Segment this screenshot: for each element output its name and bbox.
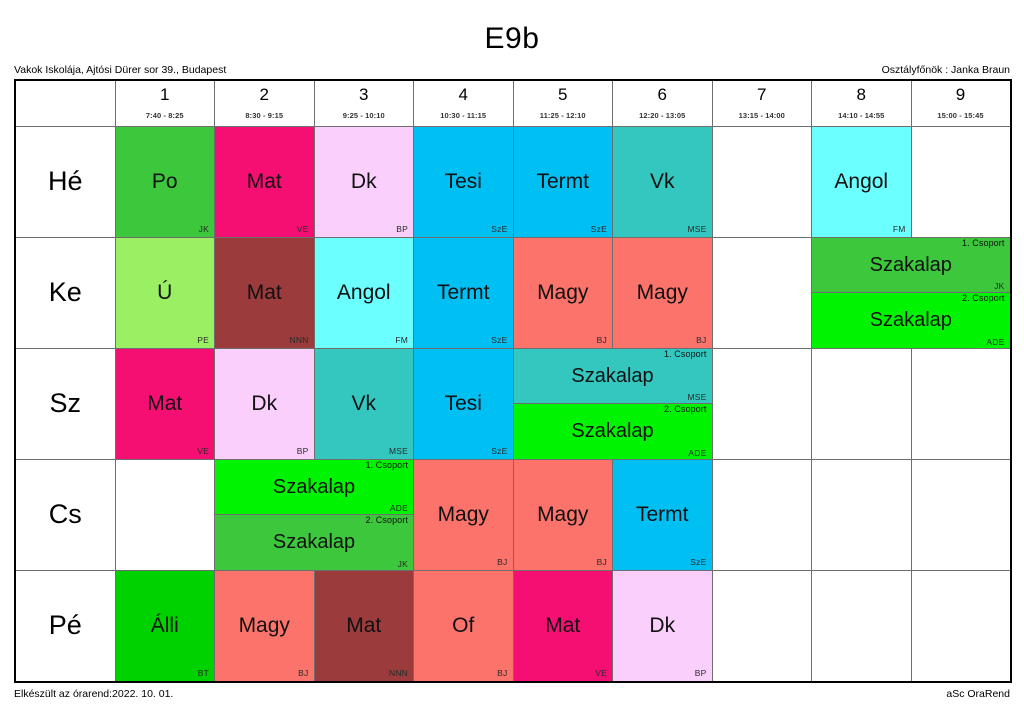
class-teacher: Osztályfőnök : Janka Braun bbox=[882, 64, 1010, 76]
lesson-cell[interactable]: OfBJ bbox=[414, 570, 514, 682]
teacher-label: BT bbox=[198, 668, 209, 678]
group-label: 1. Csoport bbox=[962, 238, 1005, 248]
teacher-label: BJ bbox=[597, 335, 607, 345]
period-header-6: 612:20 - 13:05 bbox=[613, 80, 713, 126]
subject-label: Termt bbox=[437, 282, 490, 303]
empty-slot[interactable] bbox=[812, 348, 912, 459]
teacher-label: MSE bbox=[687, 224, 706, 234]
group-lesson-1[interactable]: 1. CsoportSzakalapADE bbox=[215, 460, 413, 515]
lesson-cell[interactable]: MatNNN bbox=[314, 570, 414, 682]
lesson-cell[interactable]: ÚPE bbox=[115, 237, 215, 348]
teacher-label: SzE bbox=[591, 224, 607, 234]
subject-label: Po bbox=[152, 171, 178, 192]
group-stack: 1. CsoportSzakalapMSE2. CsoportSzakalapA… bbox=[514, 349, 712, 459]
subject-label: Magy bbox=[239, 615, 290, 636]
period-number: 9 bbox=[912, 86, 1010, 104]
subject-label: Mat bbox=[147, 393, 182, 414]
day-label-cell: Sz bbox=[15, 348, 115, 459]
lesson-box: MatVE bbox=[514, 571, 613, 681]
subject-label: Szakalap bbox=[571, 421, 653, 441]
teacher-label: BP bbox=[297, 446, 309, 456]
generated-date: Elkészült az órarend:2022. 10. 01. bbox=[14, 688, 173, 700]
period-time: 9:25 - 10:10 bbox=[315, 111, 414, 120]
teacher-label: ADE bbox=[986, 337, 1004, 347]
timetable-header-row: 17:40 - 8:2528:30 - 9:1539:25 - 10:10410… bbox=[15, 80, 1011, 126]
subject-label: Szakalap bbox=[870, 255, 952, 275]
lesson-box: OfBJ bbox=[414, 571, 513, 681]
teacher-label: SzE bbox=[690, 557, 706, 567]
lesson-box: TesiSzE bbox=[414, 349, 513, 459]
subject-label: Of bbox=[452, 615, 474, 636]
teacher-label: BJ bbox=[497, 557, 507, 567]
lesson-cell[interactable]: MatNNN bbox=[215, 237, 315, 348]
subject-label: Angol bbox=[834, 171, 888, 192]
lesson-cell[interactable]: TermtSzE bbox=[613, 459, 713, 570]
day-label-cell: Cs bbox=[15, 459, 115, 570]
day-label-cell: Pé bbox=[15, 570, 115, 682]
group-stack: 1. CsoportSzakalapADE2. CsoportSzakalapJ… bbox=[215, 460, 413, 570]
teacher-label: ADE bbox=[390, 503, 408, 513]
lesson-box: VkMSE bbox=[613, 127, 712, 237]
period-number: 8 bbox=[812, 86, 911, 104]
lesson-cell[interactable]: MagyBJ bbox=[414, 459, 514, 570]
group-lesson-2[interactable]: 2. CsoportSzakalapADE bbox=[514, 404, 712, 459]
teacher-label: SzE bbox=[491, 446, 507, 456]
lesson-cell[interactable]: DkBP bbox=[314, 126, 414, 237]
day-label-cell: Hé bbox=[15, 126, 115, 237]
lesson-cell[interactable]: MatVE bbox=[115, 348, 215, 459]
corner-cell bbox=[15, 80, 115, 126]
subject-label: Szakalap bbox=[571, 366, 653, 386]
group-lesson-2[interactable]: 2. CsoportSzakalapJK bbox=[215, 515, 413, 570]
split-lesson-cell[interactable]: 1. CsoportSzakalapADE2. CsoportSzakalapJ… bbox=[215, 459, 414, 570]
period-number: 3 bbox=[315, 86, 414, 104]
group-lesson-2[interactable]: 2. CsoportSzakalapADE bbox=[812, 293, 1010, 348]
subject-label: Szakalap bbox=[273, 477, 355, 497]
lesson-cell[interactable]: MagyBJ bbox=[513, 459, 613, 570]
period-header-7: 713:15 - 14:00 bbox=[712, 80, 812, 126]
teacher-label: BJ bbox=[696, 335, 706, 345]
teacher-label: BP bbox=[396, 224, 408, 234]
empty-slot[interactable] bbox=[911, 348, 1011, 459]
teacher-label: NNN bbox=[289, 335, 308, 345]
timetable-row: Cs1. CsoportSzakalapADE2. CsoportSzakala… bbox=[15, 459, 1011, 570]
subject-label: Szakalap bbox=[870, 310, 952, 330]
period-header-2: 28:30 - 9:15 bbox=[215, 80, 315, 126]
period-time: 12:20 - 13:05 bbox=[613, 111, 712, 120]
empty-slot[interactable] bbox=[712, 126, 812, 237]
empty-slot[interactable] bbox=[115, 459, 215, 570]
lesson-box: MagyBJ bbox=[414, 460, 513, 570]
timetable-table: 17:40 - 8:2528:30 - 9:1539:25 - 10:10410… bbox=[14, 79, 1012, 683]
teacher-label: BJ bbox=[597, 557, 607, 567]
lesson-box: MatVE bbox=[215, 127, 314, 237]
period-time: 15:00 - 15:45 bbox=[912, 111, 1010, 120]
period-time: 7:40 - 8:25 bbox=[116, 111, 215, 120]
teacher-label: MSE bbox=[687, 392, 706, 402]
teacher-label: BJ bbox=[497, 668, 507, 678]
lesson-cell[interactable]: MatVE bbox=[513, 570, 613, 682]
page-title: E9b bbox=[0, 0, 1024, 56]
teacher-label: FM bbox=[893, 224, 906, 234]
school-address: Vakok Iskolája, Ajtósi Dürer sor 39., Bu… bbox=[14, 64, 226, 76]
empty-slot[interactable] bbox=[911, 570, 1011, 682]
footer-row: Elkészült az órarend:2022. 10. 01. aSc O… bbox=[0, 683, 1024, 700]
subject-label: Mat bbox=[346, 615, 381, 636]
timetable-grid-wrapper: 17:40 - 8:2528:30 - 9:1539:25 - 10:10410… bbox=[0, 79, 1024, 683]
group-label: 2. Csoport bbox=[365, 515, 408, 525]
timetable-row: HéPoJKMatVEDkBPTesiSzETermtSzEVkMSEAngol… bbox=[15, 126, 1011, 237]
period-header-4: 410:30 - 11:15 bbox=[414, 80, 514, 126]
period-time: 11:25 - 12:10 bbox=[514, 111, 613, 120]
lesson-box: TermtSzE bbox=[414, 238, 513, 348]
lesson-cell[interactable]: DkBP bbox=[215, 348, 315, 459]
subject-label: Szakalap bbox=[273, 532, 355, 552]
lesson-cell[interactable]: ÁlliBT bbox=[115, 570, 215, 682]
lesson-cell[interactable]: TesiSzE bbox=[414, 348, 514, 459]
lesson-box: PoJK bbox=[116, 127, 215, 237]
lesson-box: TermtSzE bbox=[514, 127, 613, 237]
lesson-box: MagyBJ bbox=[514, 460, 613, 570]
empty-slot[interactable] bbox=[712, 459, 812, 570]
subject-label: Termt bbox=[636, 504, 689, 525]
subject-label: Tesi bbox=[445, 171, 482, 192]
lesson-cell[interactable]: TesiSzE bbox=[414, 126, 514, 237]
lesson-box: VkMSE bbox=[315, 349, 414, 459]
subject-label: Termt bbox=[537, 171, 590, 192]
lesson-box: MatVE bbox=[116, 349, 215, 459]
subject-label: Álli bbox=[151, 615, 179, 636]
split-lesson-cell[interactable]: 1. CsoportSzakalapMSE2. CsoportSzakalapA… bbox=[513, 348, 712, 459]
empty-slot[interactable] bbox=[911, 126, 1011, 237]
period-number: 5 bbox=[514, 86, 613, 104]
teacher-label: MSE bbox=[389, 446, 408, 456]
group-stack: 1. CsoportSzakalapJK2. CsoportSzakalapAD… bbox=[812, 238, 1010, 348]
subject-label: Tesi bbox=[445, 393, 482, 414]
empty-slot[interactable] bbox=[812, 459, 912, 570]
subject-label: Angol bbox=[337, 282, 391, 303]
period-header-5: 511:25 - 12:10 bbox=[513, 80, 613, 126]
lesson-box: DkBP bbox=[315, 127, 414, 237]
group-lesson-1[interactable]: 1. CsoportSzakalapJK bbox=[812, 238, 1010, 293]
lesson-cell[interactable]: DkBP bbox=[613, 570, 713, 682]
teacher-label: JK bbox=[994, 281, 1004, 291]
empty-slot[interactable] bbox=[911, 459, 1011, 570]
split-lesson-cell[interactable]: 1. CsoportSzakalapJK2. CsoportSzakalapAD… bbox=[812, 237, 1011, 348]
subject-label: Mat bbox=[247, 282, 282, 303]
lesson-cell[interactable]: AngolFM bbox=[812, 126, 912, 237]
subject-label: Mat bbox=[545, 615, 580, 636]
lesson-box: ÚPE bbox=[116, 238, 215, 348]
period-header-8: 814:10 - 14:55 bbox=[812, 80, 912, 126]
timetable-page: E9b Vakok Iskolája, Ajtósi Dürer sor 39.… bbox=[0, 0, 1024, 724]
timetable-body: HéPoJKMatVEDkBPTesiSzETermtSzEVkMSEAngol… bbox=[15, 126, 1011, 682]
teacher-label: BJ bbox=[298, 668, 308, 678]
lesson-cell[interactable]: MatVE bbox=[215, 126, 315, 237]
period-time: 14:10 - 14:55 bbox=[812, 111, 911, 120]
lesson-box: MatNNN bbox=[215, 238, 314, 348]
teacher-label: PE bbox=[197, 335, 209, 345]
period-header-3: 39:25 - 10:10 bbox=[314, 80, 414, 126]
teacher-label: ADE bbox=[688, 448, 706, 458]
teacher-label: NNN bbox=[389, 668, 408, 678]
lesson-box: TesiSzE bbox=[414, 127, 513, 237]
subject-label: Magy bbox=[637, 282, 688, 303]
period-time: 10:30 - 11:15 bbox=[414, 111, 513, 120]
lesson-box: MagyBJ bbox=[215, 571, 314, 681]
group-label: 2. Csoport bbox=[664, 404, 707, 414]
lesson-cell[interactable]: PoJK bbox=[115, 126, 215, 237]
subject-label: Mat bbox=[247, 171, 282, 192]
lesson-cell[interactable]: TermtSzE bbox=[414, 237, 514, 348]
subject-label: Magy bbox=[438, 504, 489, 525]
lesson-cell[interactable]: MagyBJ bbox=[215, 570, 315, 682]
software-credit: aSc OraRend bbox=[946, 688, 1010, 700]
day-label-cell: Ke bbox=[15, 237, 115, 348]
group-label: 1. Csoport bbox=[664, 349, 707, 359]
teacher-label: SzE bbox=[491, 224, 507, 234]
period-number: 2 bbox=[215, 86, 314, 104]
subject-label: Vk bbox=[351, 393, 376, 414]
teacher-label: VE bbox=[297, 224, 309, 234]
lesson-box: MatNNN bbox=[315, 571, 414, 681]
subject-label: Magy bbox=[537, 504, 588, 525]
period-time: 13:15 - 14:00 bbox=[713, 111, 812, 120]
period-header-9: 915:00 - 15:45 bbox=[911, 80, 1011, 126]
lesson-box: AngolFM bbox=[812, 127, 911, 237]
group-label: 2. Csoport bbox=[962, 293, 1005, 303]
lesson-cell[interactable]: MagyBJ bbox=[613, 237, 713, 348]
teacher-label: BP bbox=[695, 668, 707, 678]
period-number: 6 bbox=[613, 86, 712, 104]
lesson-cell[interactable]: VkMSE bbox=[314, 348, 414, 459]
group-label: 1. Csoport bbox=[365, 460, 408, 470]
subject-label: Vk bbox=[650, 171, 675, 192]
lesson-box: MagyBJ bbox=[613, 238, 712, 348]
lesson-box: DkBP bbox=[613, 571, 712, 681]
lesson-box: TermtSzE bbox=[613, 460, 712, 570]
teacher-label: JK bbox=[199, 224, 209, 234]
lesson-cell[interactable]: AngolFM bbox=[314, 237, 414, 348]
lesson-box: ÁlliBT bbox=[116, 571, 215, 681]
teacher-label: JK bbox=[398, 559, 408, 569]
empty-slot[interactable] bbox=[712, 570, 812, 682]
timetable-row: KeÚPEMatNNNAngolFMTermtSzEMagyBJMagyBJ1.… bbox=[15, 237, 1011, 348]
timetable-row: SzMatVEDkBPVkMSETesiSzE1. CsoportSzakala… bbox=[15, 348, 1011, 459]
period-number: 7 bbox=[713, 86, 812, 104]
period-number: 1 bbox=[116, 86, 215, 104]
teacher-label: FM bbox=[395, 335, 408, 345]
subject-label: Dk bbox=[351, 171, 377, 192]
timetable-row: PéÁlliBTMagyBJMatNNNOfBJMatVEDkBP bbox=[15, 570, 1011, 682]
subject-label: Ú bbox=[157, 282, 172, 303]
lesson-box: DkBP bbox=[215, 349, 314, 459]
teacher-label: VE bbox=[197, 446, 209, 456]
empty-slot[interactable] bbox=[712, 348, 812, 459]
teacher-label: SzE bbox=[491, 335, 507, 345]
lesson-box: MagyBJ bbox=[514, 238, 613, 348]
period-number: 4 bbox=[414, 86, 513, 104]
period-header-1: 17:40 - 8:25 bbox=[115, 80, 215, 126]
lesson-cell[interactable]: VkMSE bbox=[613, 126, 713, 237]
subject-label: Dk bbox=[251, 393, 277, 414]
meta-row: Vakok Iskolája, Ajtósi Dürer sor 39., Bu… bbox=[0, 56, 1024, 79]
lesson-cell[interactable]: MagyBJ bbox=[513, 237, 613, 348]
subject-label: Dk bbox=[649, 615, 675, 636]
empty-slot[interactable] bbox=[812, 570, 912, 682]
period-time: 8:30 - 9:15 bbox=[215, 111, 314, 120]
empty-slot[interactable] bbox=[712, 237, 812, 348]
group-lesson-1[interactable]: 1. CsoportSzakalapMSE bbox=[514, 349, 712, 404]
teacher-label: VE bbox=[595, 668, 607, 678]
lesson-box: AngolFM bbox=[315, 238, 414, 348]
lesson-cell[interactable]: TermtSzE bbox=[513, 126, 613, 237]
subject-label: Magy bbox=[537, 282, 588, 303]
